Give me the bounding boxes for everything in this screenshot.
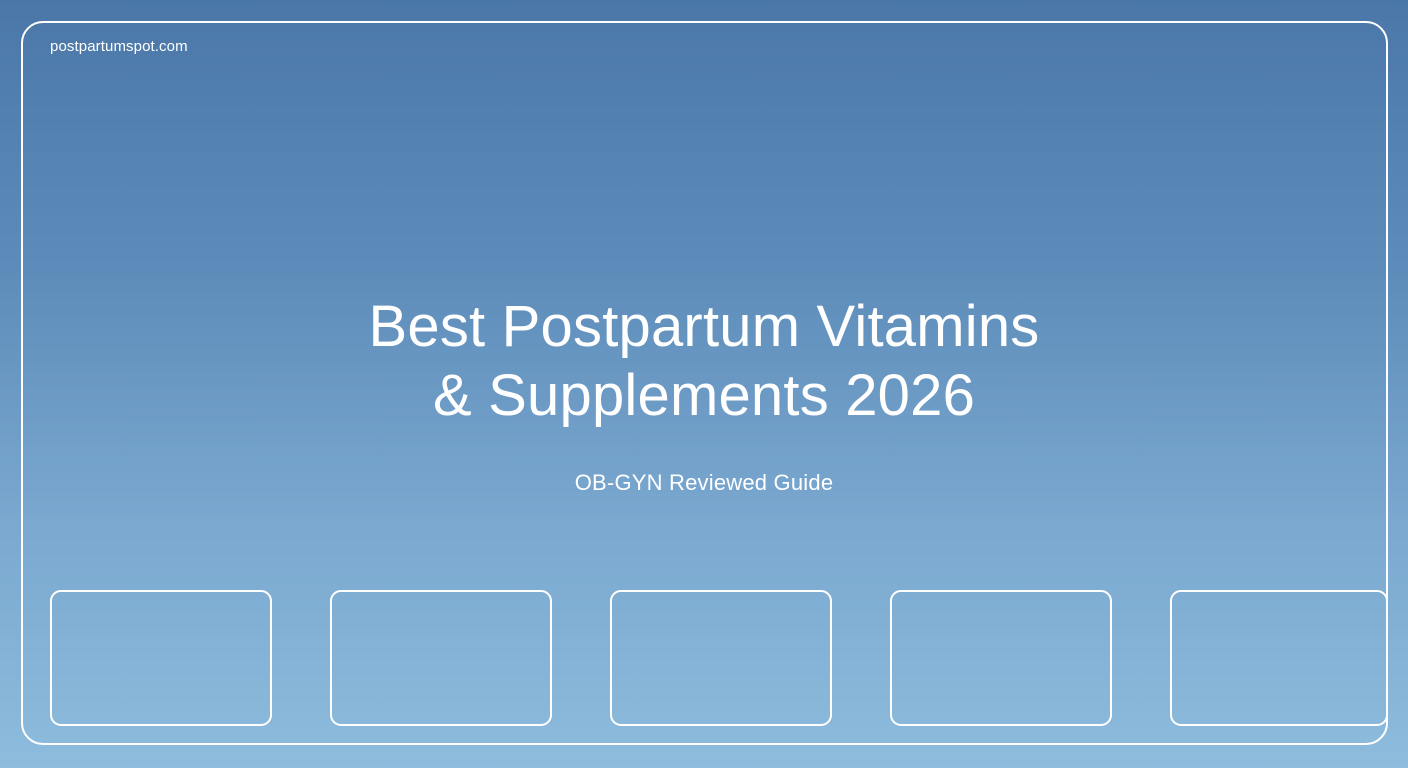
source-domain-label: postpartumspot.com (50, 38, 188, 55)
product-card[interactable] (330, 590, 552, 726)
card-strip (50, 590, 1388, 728)
hero-text-block: Best Postpartum Vitamins & Supplements 2… (0, 292, 1408, 498)
product-card[interactable] (610, 590, 832, 726)
slide-canvas: postpartumspot.com Best Postpartum Vitam… (0, 0, 1408, 768)
page-subtitle: OB-GYN Reviewed Guide (0, 430, 1408, 498)
product-card[interactable] (50, 590, 272, 726)
page-title: Best Postpartum Vitamins & Supplements 2… (0, 292, 1408, 430)
product-card[interactable] (1170, 590, 1388, 726)
product-card[interactable] (890, 590, 1112, 726)
